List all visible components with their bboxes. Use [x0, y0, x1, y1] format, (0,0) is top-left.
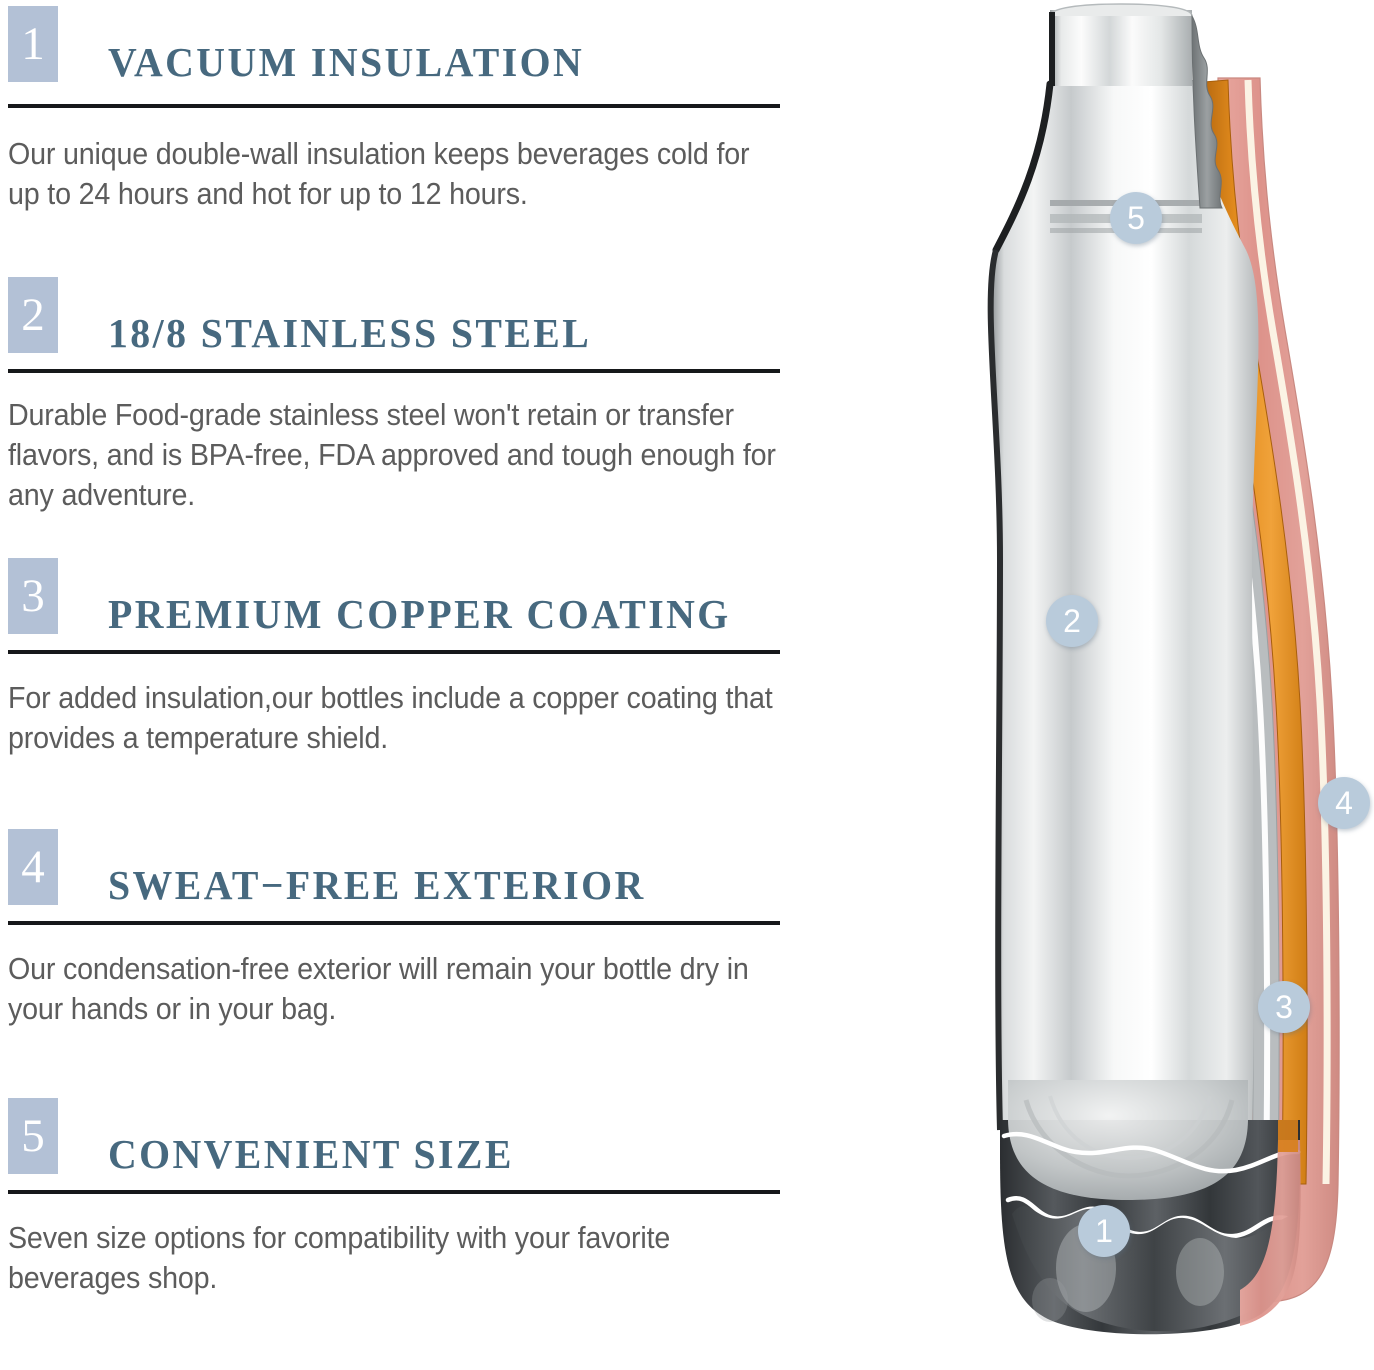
feature-number-badge-1: 1	[8, 6, 58, 82]
bottle-neck	[1050, 10, 1192, 86]
feature-divider-2	[8, 369, 780, 373]
bottle-marker-2[interactable]: 2	[1046, 595, 1098, 647]
bottle-marker-4[interactable]: 4	[1318, 777, 1370, 829]
feature-divider-3	[8, 650, 780, 654]
feature-divider-4	[8, 921, 780, 925]
feature-item-1: 1 VACUUM INSULATION Our unique double-wa…	[8, 6, 868, 92]
feature-item-3: 3 PREMIUM COPPER COATING For added insul…	[8, 558, 868, 644]
feature-item-2: 2 18/8 STAINLESS STEEL Durable Food-grad…	[8, 277, 868, 363]
feature-header-3: 3 PREMIUM COPPER COATING	[8, 558, 868, 644]
feature-title-4: SWEAT−FREE EXTERIOR	[108, 861, 646, 909]
bottle-marker-1[interactable]: 1	[1078, 1205, 1130, 1257]
feature-item-4: 4 SWEAT−FREE EXTERIOR Our condensation-f…	[8, 829, 868, 915]
bottle-marker-3[interactable]: 3	[1258, 981, 1310, 1033]
feature-title-2: 18/8 STAINLESS STEEL	[108, 309, 591, 357]
stainless-steel-interior	[991, 84, 1259, 1240]
feature-title-5: CONVENIENT SIZE	[108, 1130, 514, 1178]
feature-list: 1 VACUUM INSULATION Our unique double-wa…	[0, 0, 880, 1370]
bottle-marker-5[interactable]: 5	[1110, 192, 1162, 244]
feature-number-badge-5: 5	[8, 1098, 58, 1174]
feature-header-1: 1 VACUUM INSULATION	[8, 6, 868, 92]
feature-body-3: For added insulation,our bottles include…	[8, 678, 779, 758]
feature-body-4: Our condensation-free exterior will rema…	[8, 949, 779, 1029]
feature-header-2: 2 18/8 STAINLESS STEEL	[8, 277, 868, 363]
feature-body-2: Durable Food-grade stainless steel won't…	[8, 395, 779, 515]
feature-item-5: 5 CONVENIENT SIZE Seven size options for…	[8, 1098, 868, 1184]
feature-body-5: Seven size options for compatibility wit…	[8, 1218, 779, 1298]
feature-body-1: Our unique double-wall insulation keeps …	[8, 134, 779, 214]
feature-divider-5	[8, 1190, 780, 1194]
feature-divider-1	[8, 104, 780, 108]
feature-number-badge-3: 3	[8, 558, 58, 634]
feature-title-1: VACUUM INSULATION	[108, 38, 584, 86]
infographic-page: 1 VACUUM INSULATION Our unique double-wa…	[0, 0, 1374, 1370]
feature-number-badge-2: 2	[8, 277, 58, 353]
feature-header-5: 5 CONVENIENT SIZE	[8, 1098, 868, 1184]
feature-header-4: 4 SWEAT−FREE EXTERIOR	[8, 829, 868, 915]
feature-number-badge-4: 4	[8, 829, 58, 905]
feature-title-3: PREMIUM COPPER COATING	[108, 590, 731, 638]
